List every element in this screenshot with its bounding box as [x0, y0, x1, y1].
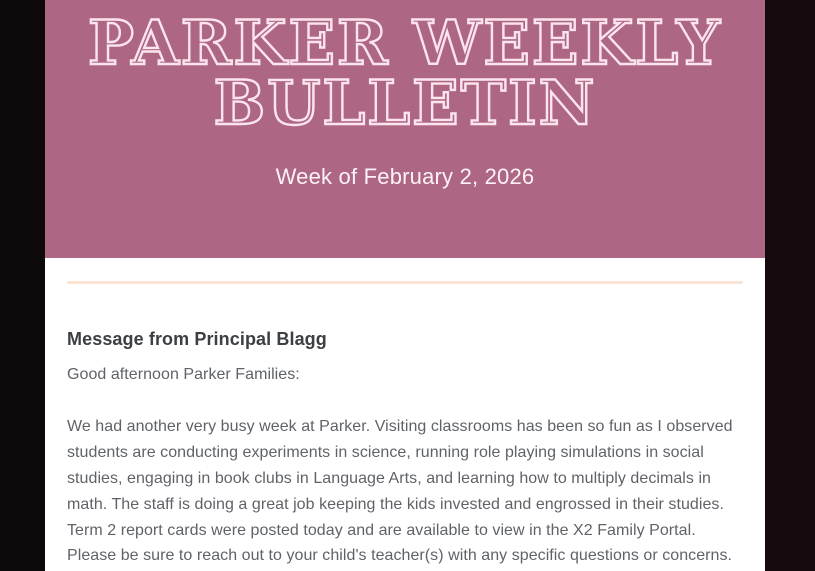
section-divider [67, 281, 743, 284]
masthead-date: Week of February 2, 2026 [45, 164, 765, 190]
greeting-text: Good afternoon Parker Families: [67, 362, 743, 388]
page-surround-right [765, 0, 815, 571]
newsletter-sheet: Parker Weekly Bulletin Week of February … [45, 0, 765, 571]
masthead-title: Parker Weekly Bulletin [45, 14, 765, 134]
masthead: Parker Weekly Bulletin Week of February … [45, 0, 765, 258]
section-heading-principal-message: Message from Principal Blagg [67, 329, 743, 350]
newsletter-content: Message from Principal Blagg Good aftern… [45, 281, 765, 571]
masthead-title-line-2: Bulletin [61, 74, 749, 134]
page-surround: Parker Weekly Bulletin Week of February … [0, 0, 815, 571]
principal-message-paragraph: We had another very busy week at Parker.… [67, 414, 743, 571]
